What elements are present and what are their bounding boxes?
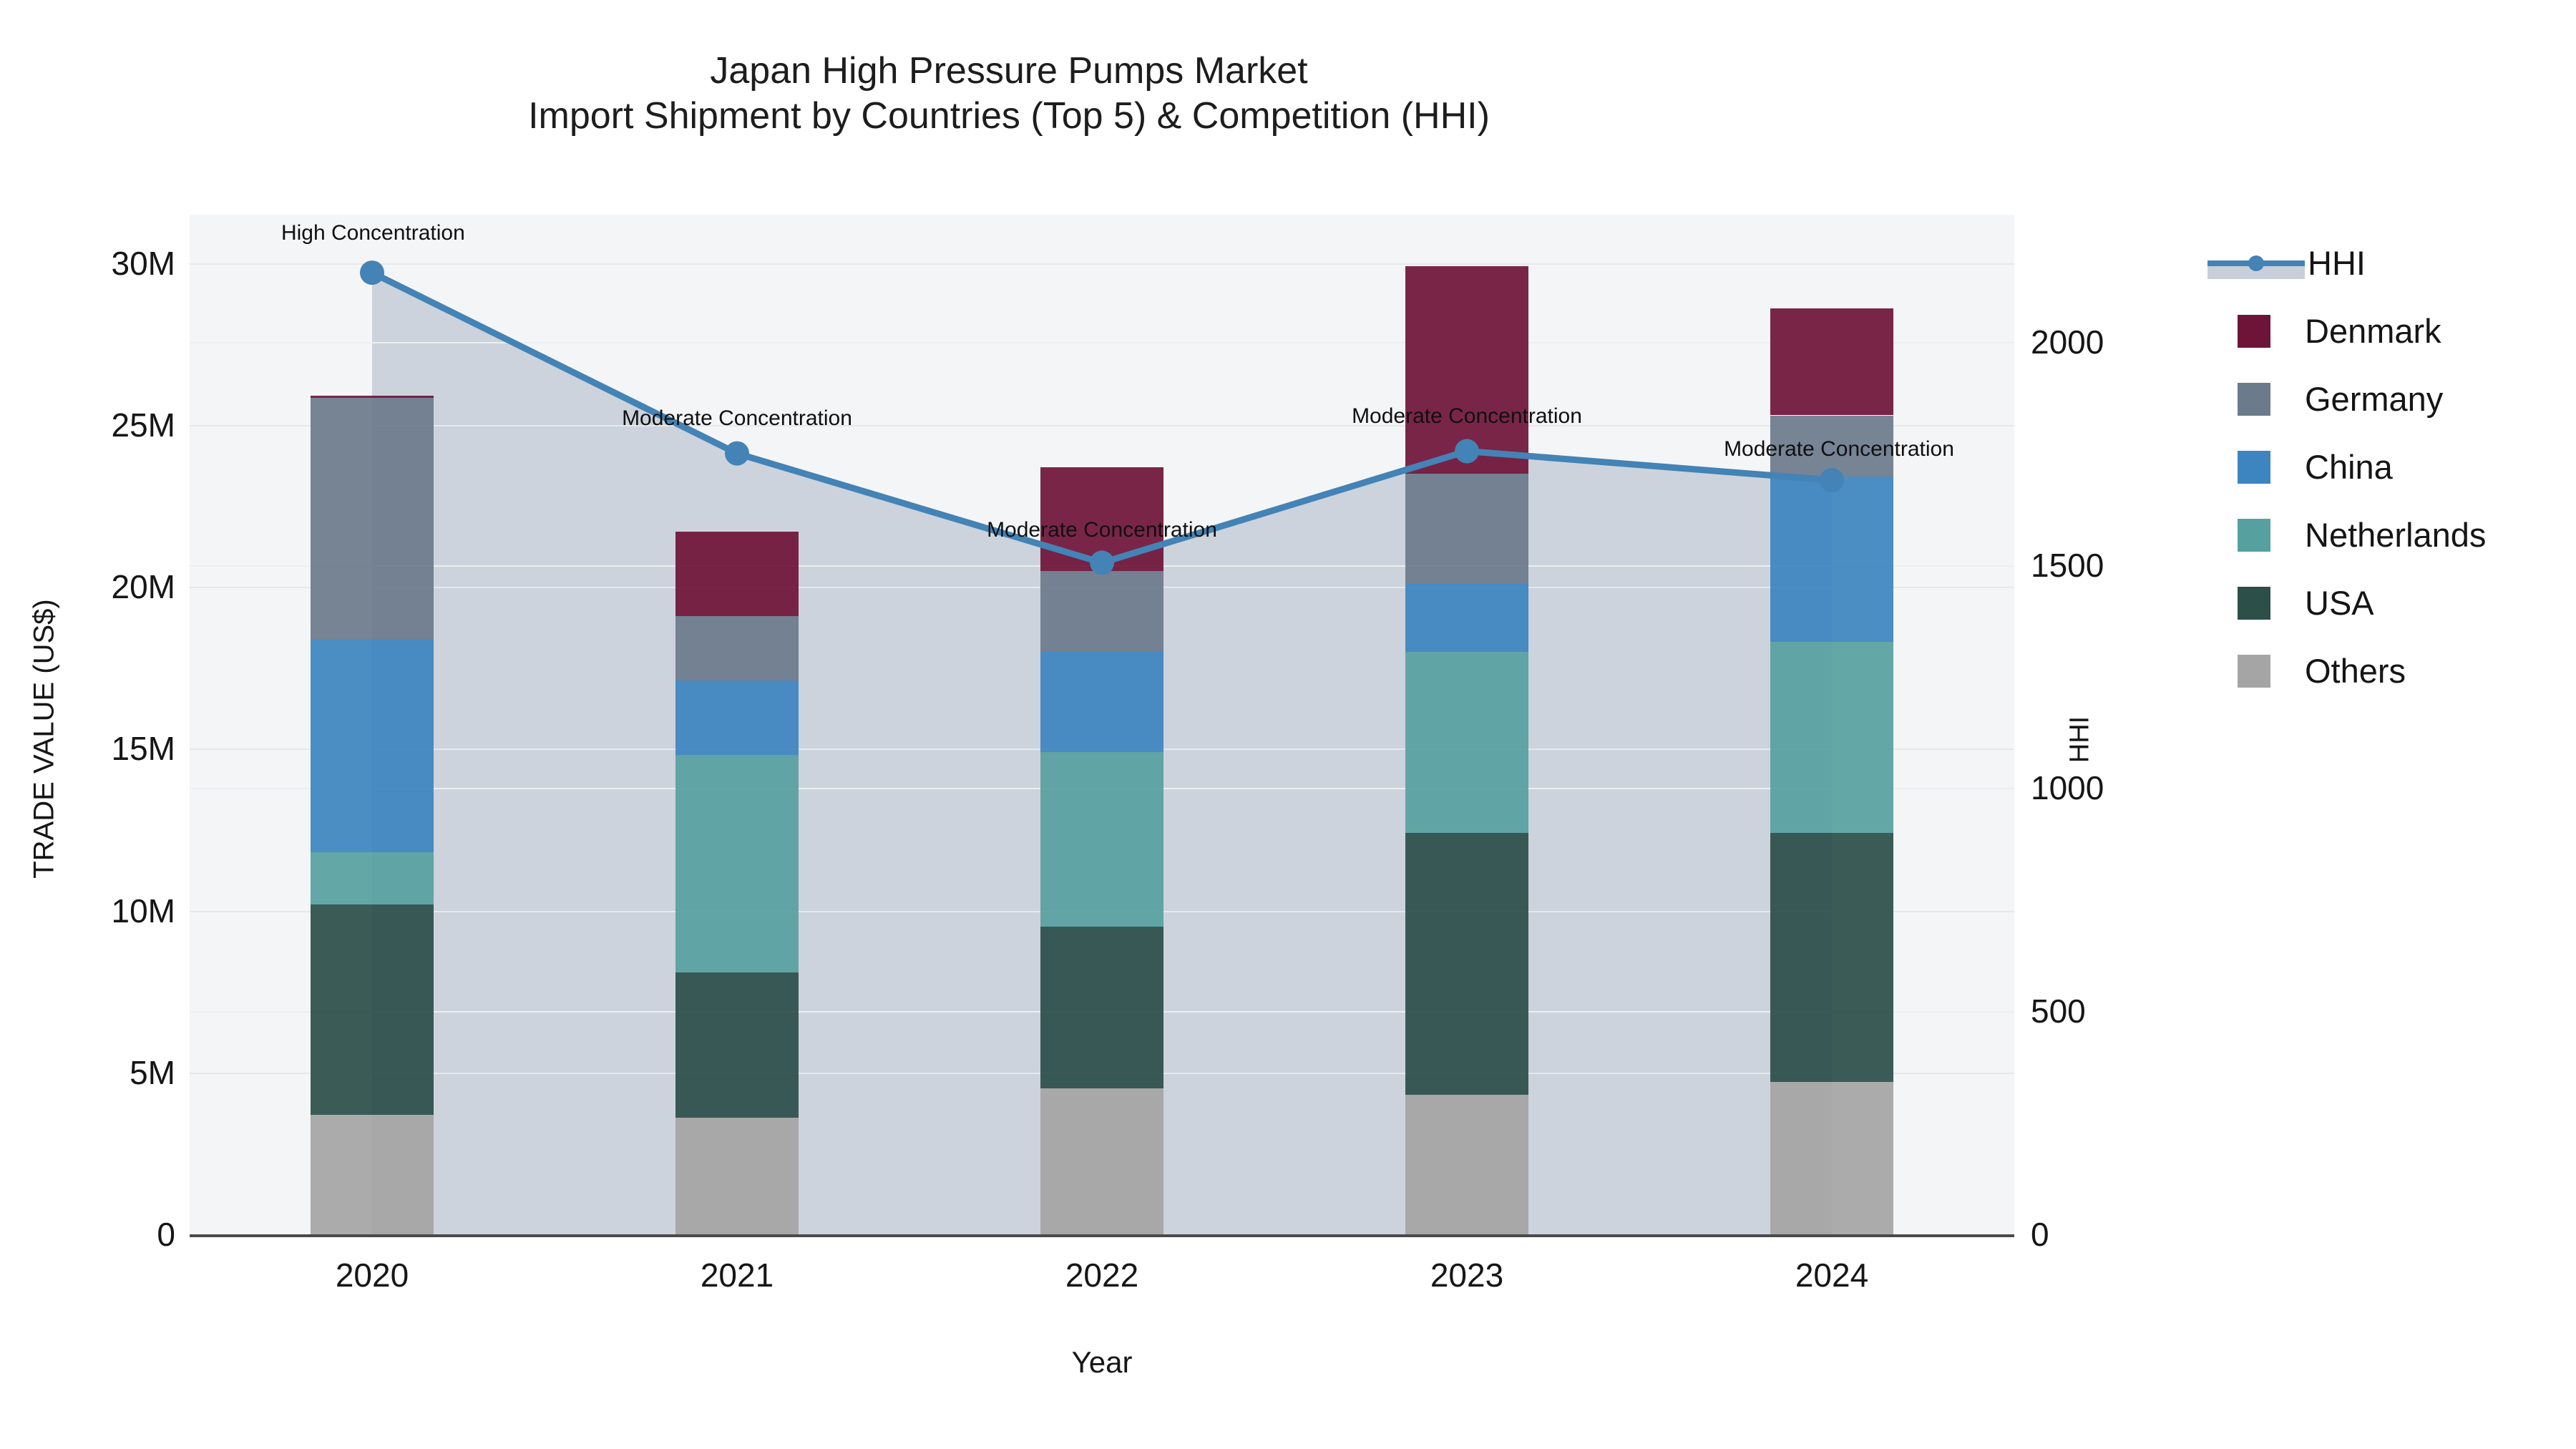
- legend-swatch-usa: [2238, 587, 2270, 620]
- bar-segment-china-2020[interactable]: [311, 639, 434, 853]
- legend-label-usa: USA: [2305, 586, 2374, 620]
- legend-label-others: Others: [2305, 654, 2406, 688]
- legend-line-icon: [2207, 247, 2305, 280]
- legend-item-china[interactable]: China: [2207, 433, 2565, 501]
- bar-segment-china-2024[interactable]: [1770, 477, 1893, 642]
- bar-segment-others-2020[interactable]: [311, 1115, 434, 1234]
- y-tick-label-0: 0: [0, 1215, 175, 1254]
- x-tick-label-2020: 2020: [265, 1256, 479, 1294]
- chart-figure: Japan High Pressure Pumps Market Import …: [0, 0, 2576, 1449]
- legend-item-netherlands[interactable]: Netherlands: [2207, 501, 2565, 569]
- bar-segment-others-2021[interactable]: [675, 1118, 799, 1234]
- x-tick-label-2021: 2021: [630, 1256, 844, 1294]
- y2-tick-label-2000: 2000: [2031, 323, 2188, 361]
- legend-swatch-others: [2238, 655, 2270, 688]
- x-tick-label-2023: 2023: [1360, 1256, 1574, 1294]
- bar-segment-netherlands-2022[interactable]: [1040, 752, 1163, 927]
- bar-segment-denmark-2021[interactable]: [675, 532, 799, 616]
- annotation-2021: Moderate Concentration: [622, 406, 852, 431]
- gridline-y-25M: [190, 425, 2014, 426]
- legend-swatch-denmark: [2238, 315, 2270, 348]
- legend-label-netherlands: Netherlands: [2305, 518, 2486, 552]
- x-axis-spine: [190, 1234, 2014, 1237]
- bar-segment-usa-2021[interactable]: [675, 972, 799, 1118]
- y2-axis-title: HHI: [2065, 597, 2096, 883]
- legend-item-hhi[interactable]: HHI: [2207, 229, 2565, 297]
- bar-segment-denmark-2023[interactable]: [1405, 266, 1528, 474]
- bar-segment-germany-2022[interactable]: [1040, 571, 1163, 652]
- annotation-2024: Moderate Concentration: [1724, 437, 1954, 462]
- bar-segment-china-2023[interactable]: [1405, 584, 1528, 652]
- bar-segment-germany-2023[interactable]: [1405, 474, 1528, 584]
- bar-segment-others-2024[interactable]: [1770, 1082, 1893, 1234]
- bar-segment-usa-2024[interactable]: [1770, 833, 1893, 1082]
- page-title: Japan High Pressure Pumps Market Import …: [0, 49, 2018, 140]
- bar-segment-usa-2022[interactable]: [1040, 927, 1163, 1088]
- y-tick-label-5M: 5M: [0, 1053, 175, 1092]
- bar-segment-others-2022[interactable]: [1040, 1088, 1163, 1234]
- legend-swatch-china: [2238, 451, 2270, 484]
- annotation-2023: Moderate Concentration: [1352, 404, 1582, 429]
- y-tick-label-30M: 30M: [0, 244, 175, 283]
- y2-tick-label-500: 500: [2031, 992, 2188, 1030]
- y2-tick-label-0: 0: [2031, 1215, 2188, 1254]
- bar-segment-netherlands-2021[interactable]: [675, 755, 799, 972]
- legend-item-usa[interactable]: USA: [2207, 569, 2565, 637]
- legend-swatch-netherlands: [2238, 519, 2270, 552]
- legend-label-china: China: [2305, 450, 2393, 484]
- legend-label-germany: Germany: [2305, 382, 2443, 416]
- gridline-y-30M: [190, 263, 2014, 265]
- bar-segment-netherlands-2024[interactable]: [1770, 642, 1893, 833]
- bar-segment-germany-2021[interactable]: [675, 616, 799, 680]
- legend-label-denmark: Denmark: [2305, 314, 2441, 348]
- bar-segment-usa-2023[interactable]: [1405, 833, 1528, 1095]
- bar-segment-denmark-2024[interactable]: [1770, 308, 1893, 415]
- y-tick-label-15M: 15M: [0, 729, 175, 768]
- bar-segment-others-2023[interactable]: [1405, 1095, 1528, 1234]
- y2-tick-label-1500: 1500: [2031, 546, 2188, 585]
- y-tick-label-25M: 25M: [0, 406, 175, 444]
- x-tick-label-2024: 2024: [1724, 1256, 1939, 1294]
- y-tick-label-10M: 10M: [0, 892, 175, 930]
- hhi-point-2021[interactable]: [725, 441, 749, 466]
- gridline-y2-2000: [190, 342, 2014, 343]
- legend-item-others[interactable]: Others: [2207, 637, 2565, 705]
- bar-segment-netherlands-2023[interactable]: [1405, 652, 1528, 833]
- x-tick-label-2022: 2022: [995, 1256, 1209, 1294]
- annotation-2020: High Concentration: [281, 221, 465, 245]
- plot-area: [190, 215, 2014, 1234]
- bar-segment-netherlands-2020[interactable]: [311, 852, 434, 904]
- y2-tick-label-1000: 1000: [2031, 769, 2188, 807]
- legend-item-denmark[interactable]: Denmark: [2207, 297, 2565, 365]
- chart-legend: HHIDenmarkGermanyChinaNetherlandsUSAOthe…: [2207, 229, 2565, 705]
- annotation-2022: Moderate Concentration: [987, 518, 1217, 542]
- x-axis-title: Year: [190, 1345, 2014, 1380]
- bar-segment-usa-2020[interactable]: [311, 904, 434, 1115]
- bar-segment-china-2021[interactable]: [675, 680, 799, 755]
- legend-item-germany[interactable]: Germany: [2207, 365, 2565, 433]
- bar-segment-denmark-2020[interactable]: [311, 396, 434, 397]
- y-tick-label-20M: 20M: [0, 567, 175, 606]
- legend-swatch-germany: [2238, 383, 2270, 416]
- legend-label-hhi: HHI: [2308, 246, 2366, 280]
- bar-segment-china-2022[interactable]: [1040, 652, 1163, 752]
- bar-segment-germany-2020[interactable]: [311, 398, 434, 639]
